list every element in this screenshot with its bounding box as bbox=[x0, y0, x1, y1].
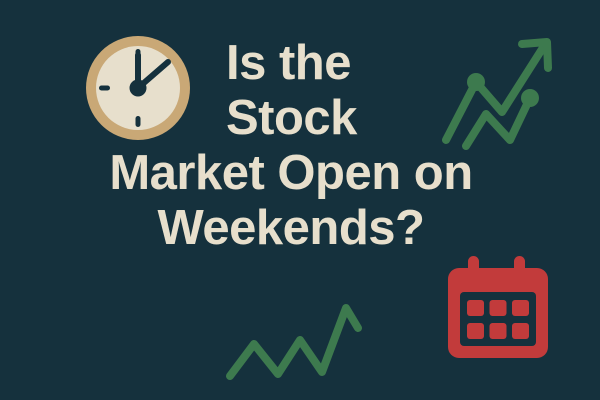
trending-up-line-icon bbox=[224, 292, 374, 382]
headline-line-4: Weekends? bbox=[0, 201, 600, 256]
calendar-icon bbox=[444, 256, 552, 360]
hero-graphic-canvas: Is the Stock Market Open on Weekends? bbox=[0, 0, 600, 400]
headline-line-3: Market Open on bbox=[0, 146, 600, 201]
trending-up-arrow-icon bbox=[444, 22, 574, 152]
